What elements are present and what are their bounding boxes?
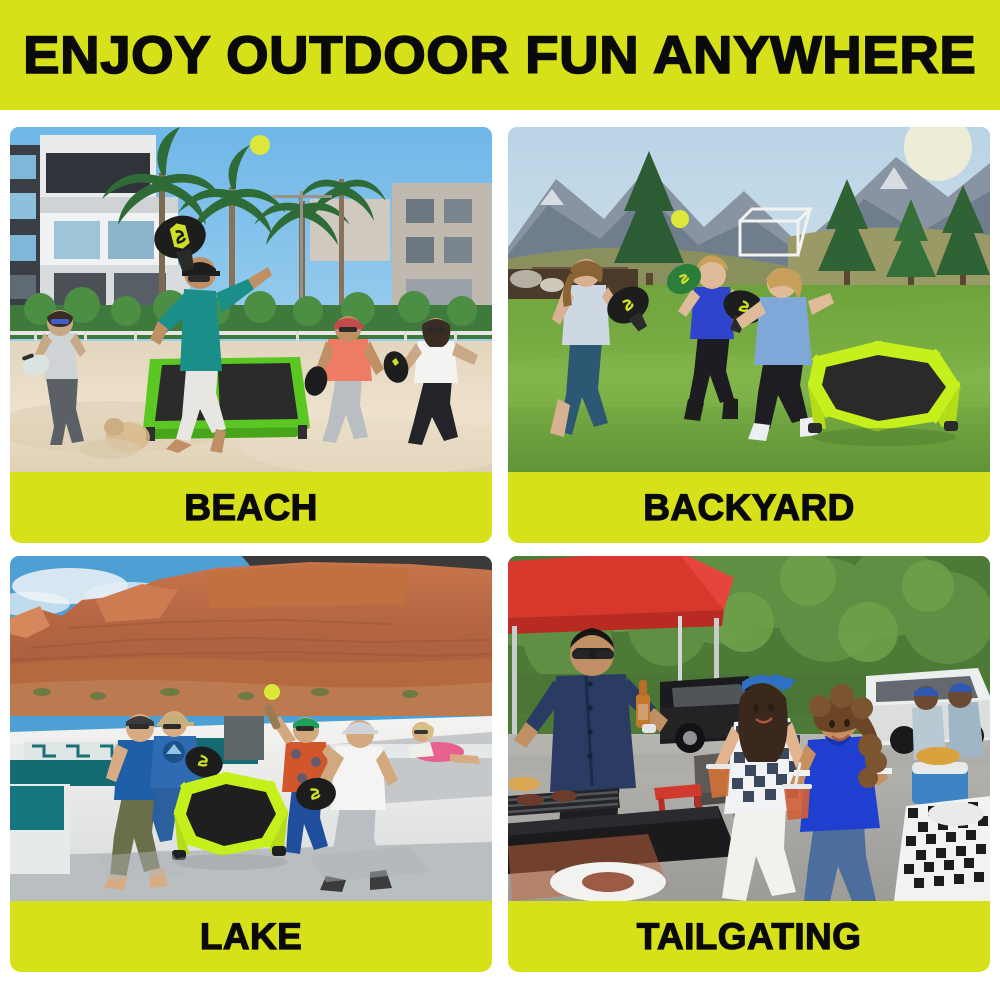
caption-label-tailgating: TAILGATING: [637, 918, 862, 955]
backyard-illustration: [508, 127, 990, 472]
header-banner: ENJOY OUTDOOR FUN ANYWHERE: [0, 0, 1000, 110]
tailgating-illustration: [508, 556, 990, 901]
caption-label-backyard: BACKYARD: [643, 489, 855, 526]
checkered-table: [894, 796, 990, 901]
beach-illustration: [10, 127, 492, 472]
tailgating-photo: [508, 556, 990, 901]
page-title: ENJOY OUTDOOR FUN ANYWHERE: [23, 29, 976, 82]
caption-tailgating: TAILGATING: [508, 901, 990, 972]
caption-lake: LAKE: [10, 901, 492, 972]
scene-card-beach[interactable]: BEACH: [10, 127, 492, 543]
lake-photo: [10, 556, 492, 901]
caption-backyard: BACKYARD: [508, 472, 990, 543]
caption-label-lake: LAKE: [200, 918, 302, 955]
scene-grid: BEACH: [10, 127, 990, 972]
game-ball: [264, 684, 280, 700]
caption-beach: BEACH: [10, 472, 492, 543]
caption-label-beach: BEACH: [184, 489, 318, 526]
game-ball: [250, 135, 270, 155]
beach-photo: [10, 127, 492, 472]
scene-card-backyard[interactable]: BACKYARD: [508, 127, 990, 543]
scene-card-tailgating[interactable]: TAILGATING: [508, 556, 990, 972]
game-ball: [671, 210, 689, 228]
lake-illustration: [10, 556, 492, 901]
scene-card-lake[interactable]: LAKE: [10, 556, 492, 972]
backyard-photo: [508, 127, 990, 472]
roundnet-beach: [143, 357, 310, 441]
marketing-collage: ENJOY OUTDOOR FUN ANYWHERE: [0, 0, 1000, 982]
